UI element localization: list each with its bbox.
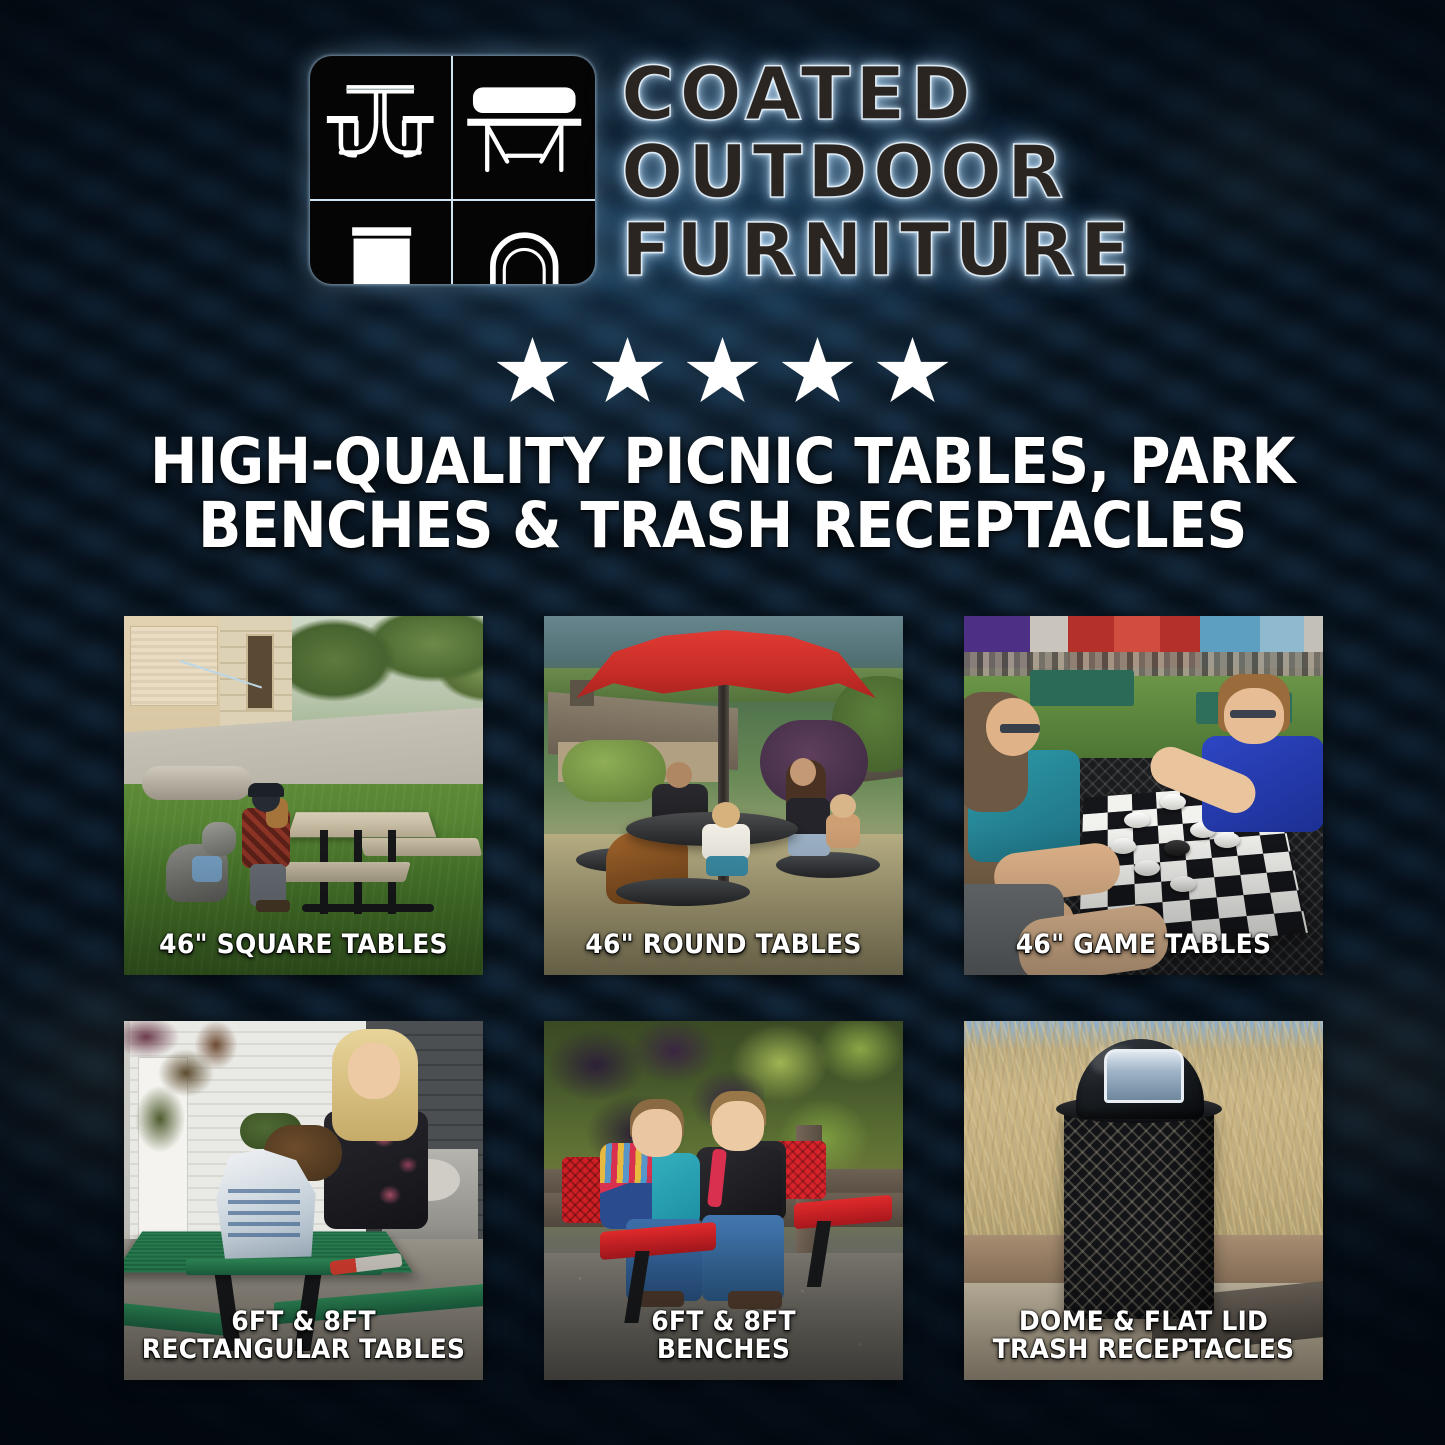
product-tile-round-tables[interactable]: 46" ROUND TABLES <box>544 616 903 975</box>
product-tile-trash-receptacles[interactable]: DOME & FLAT LID TRASH RECEPTACLES <box>964 1021 1323 1380</box>
brand-line-2: OUTDOOR <box>621 138 1135 208</box>
five-star-rating <box>0 337 1445 407</box>
product-photo-round-tables <box>544 616 903 975</box>
product-tile-square-tables[interactable]: 46" SQUARE TABLES <box>124 616 483 975</box>
product-tile-benches[interactable]: 6FT & 8FT BENCHES <box>544 1021 903 1380</box>
marketing-poster: COATED OUTDOOR FURNITURE HIGH-QUALITY PI… <box>0 0 1445 1445</box>
product-grid: 46" SQUARE TABLES <box>124 616 1323 1380</box>
headline-line-1: HIGH-QUALITY PICNIC TABLES, PARK <box>126 430 1319 494</box>
star-icon <box>497 337 569 407</box>
star-icon <box>687 337 759 407</box>
bench-table-side-icon <box>453 56 596 201</box>
bike-rack-arch-icon <box>453 201 596 285</box>
product-tile-rectangular-tables[interactable]: 6FT & 8FT RECTANGULAR TABLES <box>124 1021 483 1380</box>
brand-header: COATED OUTDOOR FURNITURE <box>0 56 1445 286</box>
headline-line-2: BENCHES & TRASH RECEPTACLES <box>126 494 1319 558</box>
star-icon <box>782 337 854 407</box>
brand-logo-mark <box>310 56 595 284</box>
product-photo-game-tables <box>964 616 1323 975</box>
page-title: HIGH-QUALITY PICNIC TABLES, PARK BENCHES… <box>126 430 1319 559</box>
brand-line-1: COATED <box>621 60 1135 130</box>
product-tile-game-tables[interactable]: 46" GAME TABLES <box>964 616 1323 975</box>
brand-wordmark: COATED OUTDOOR FURNITURE <box>621 56 1135 286</box>
picnic-table-front-icon <box>310 56 453 201</box>
product-photo-trash-receptacles <box>964 1021 1323 1380</box>
product-photo-square-tables <box>124 616 483 975</box>
brand-line-3: FURNITURE <box>621 216 1135 286</box>
product-photo-rectangular-tables <box>124 1021 483 1380</box>
product-photo-benches <box>544 1021 903 1380</box>
trash-receptacle-icon <box>310 201 453 285</box>
star-icon <box>592 337 664 407</box>
star-icon <box>877 337 949 407</box>
